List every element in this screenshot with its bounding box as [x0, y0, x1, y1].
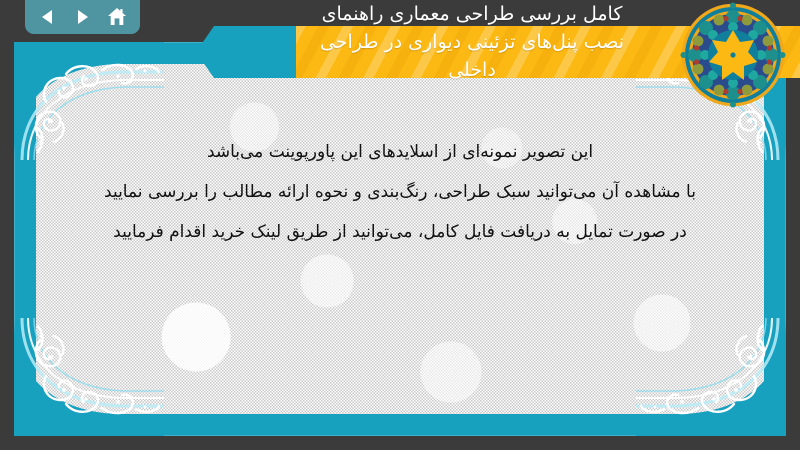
- body-line-2: با مشاهده آن می‌توانید سبک طراحی، رنگ‌بن…: [60, 172, 740, 212]
- prev-slide-button[interactable]: [35, 4, 61, 30]
- title-line-1: کامل بررسی طراحی معماری راهنمای: [240, 0, 704, 28]
- medallion-ornament: [680, 2, 786, 108]
- triangle-right-icon: [72, 7, 92, 27]
- home-button[interactable]: [104, 4, 130, 30]
- home-icon: [106, 6, 128, 28]
- navigation-bar: [25, 0, 140, 34]
- body-line-1: این تصویر نمونه‌ای از اسلایدهای این پاور…: [60, 132, 740, 172]
- body-line-3: در صورت تمایل به دریافت فایل کامل، می‌تو…: [60, 212, 740, 252]
- slide-canvas: کامل بررسی طراحی معماری راهنمای نصب پنل‌…: [0, 0, 800, 450]
- slide-body-text: این تصویر نمونه‌ای از اسلایدهای این پاور…: [60, 132, 740, 252]
- triangle-left-icon: [38, 7, 58, 27]
- next-slide-button[interactable]: [69, 4, 95, 30]
- title-ribbon-tab: [196, 26, 296, 78]
